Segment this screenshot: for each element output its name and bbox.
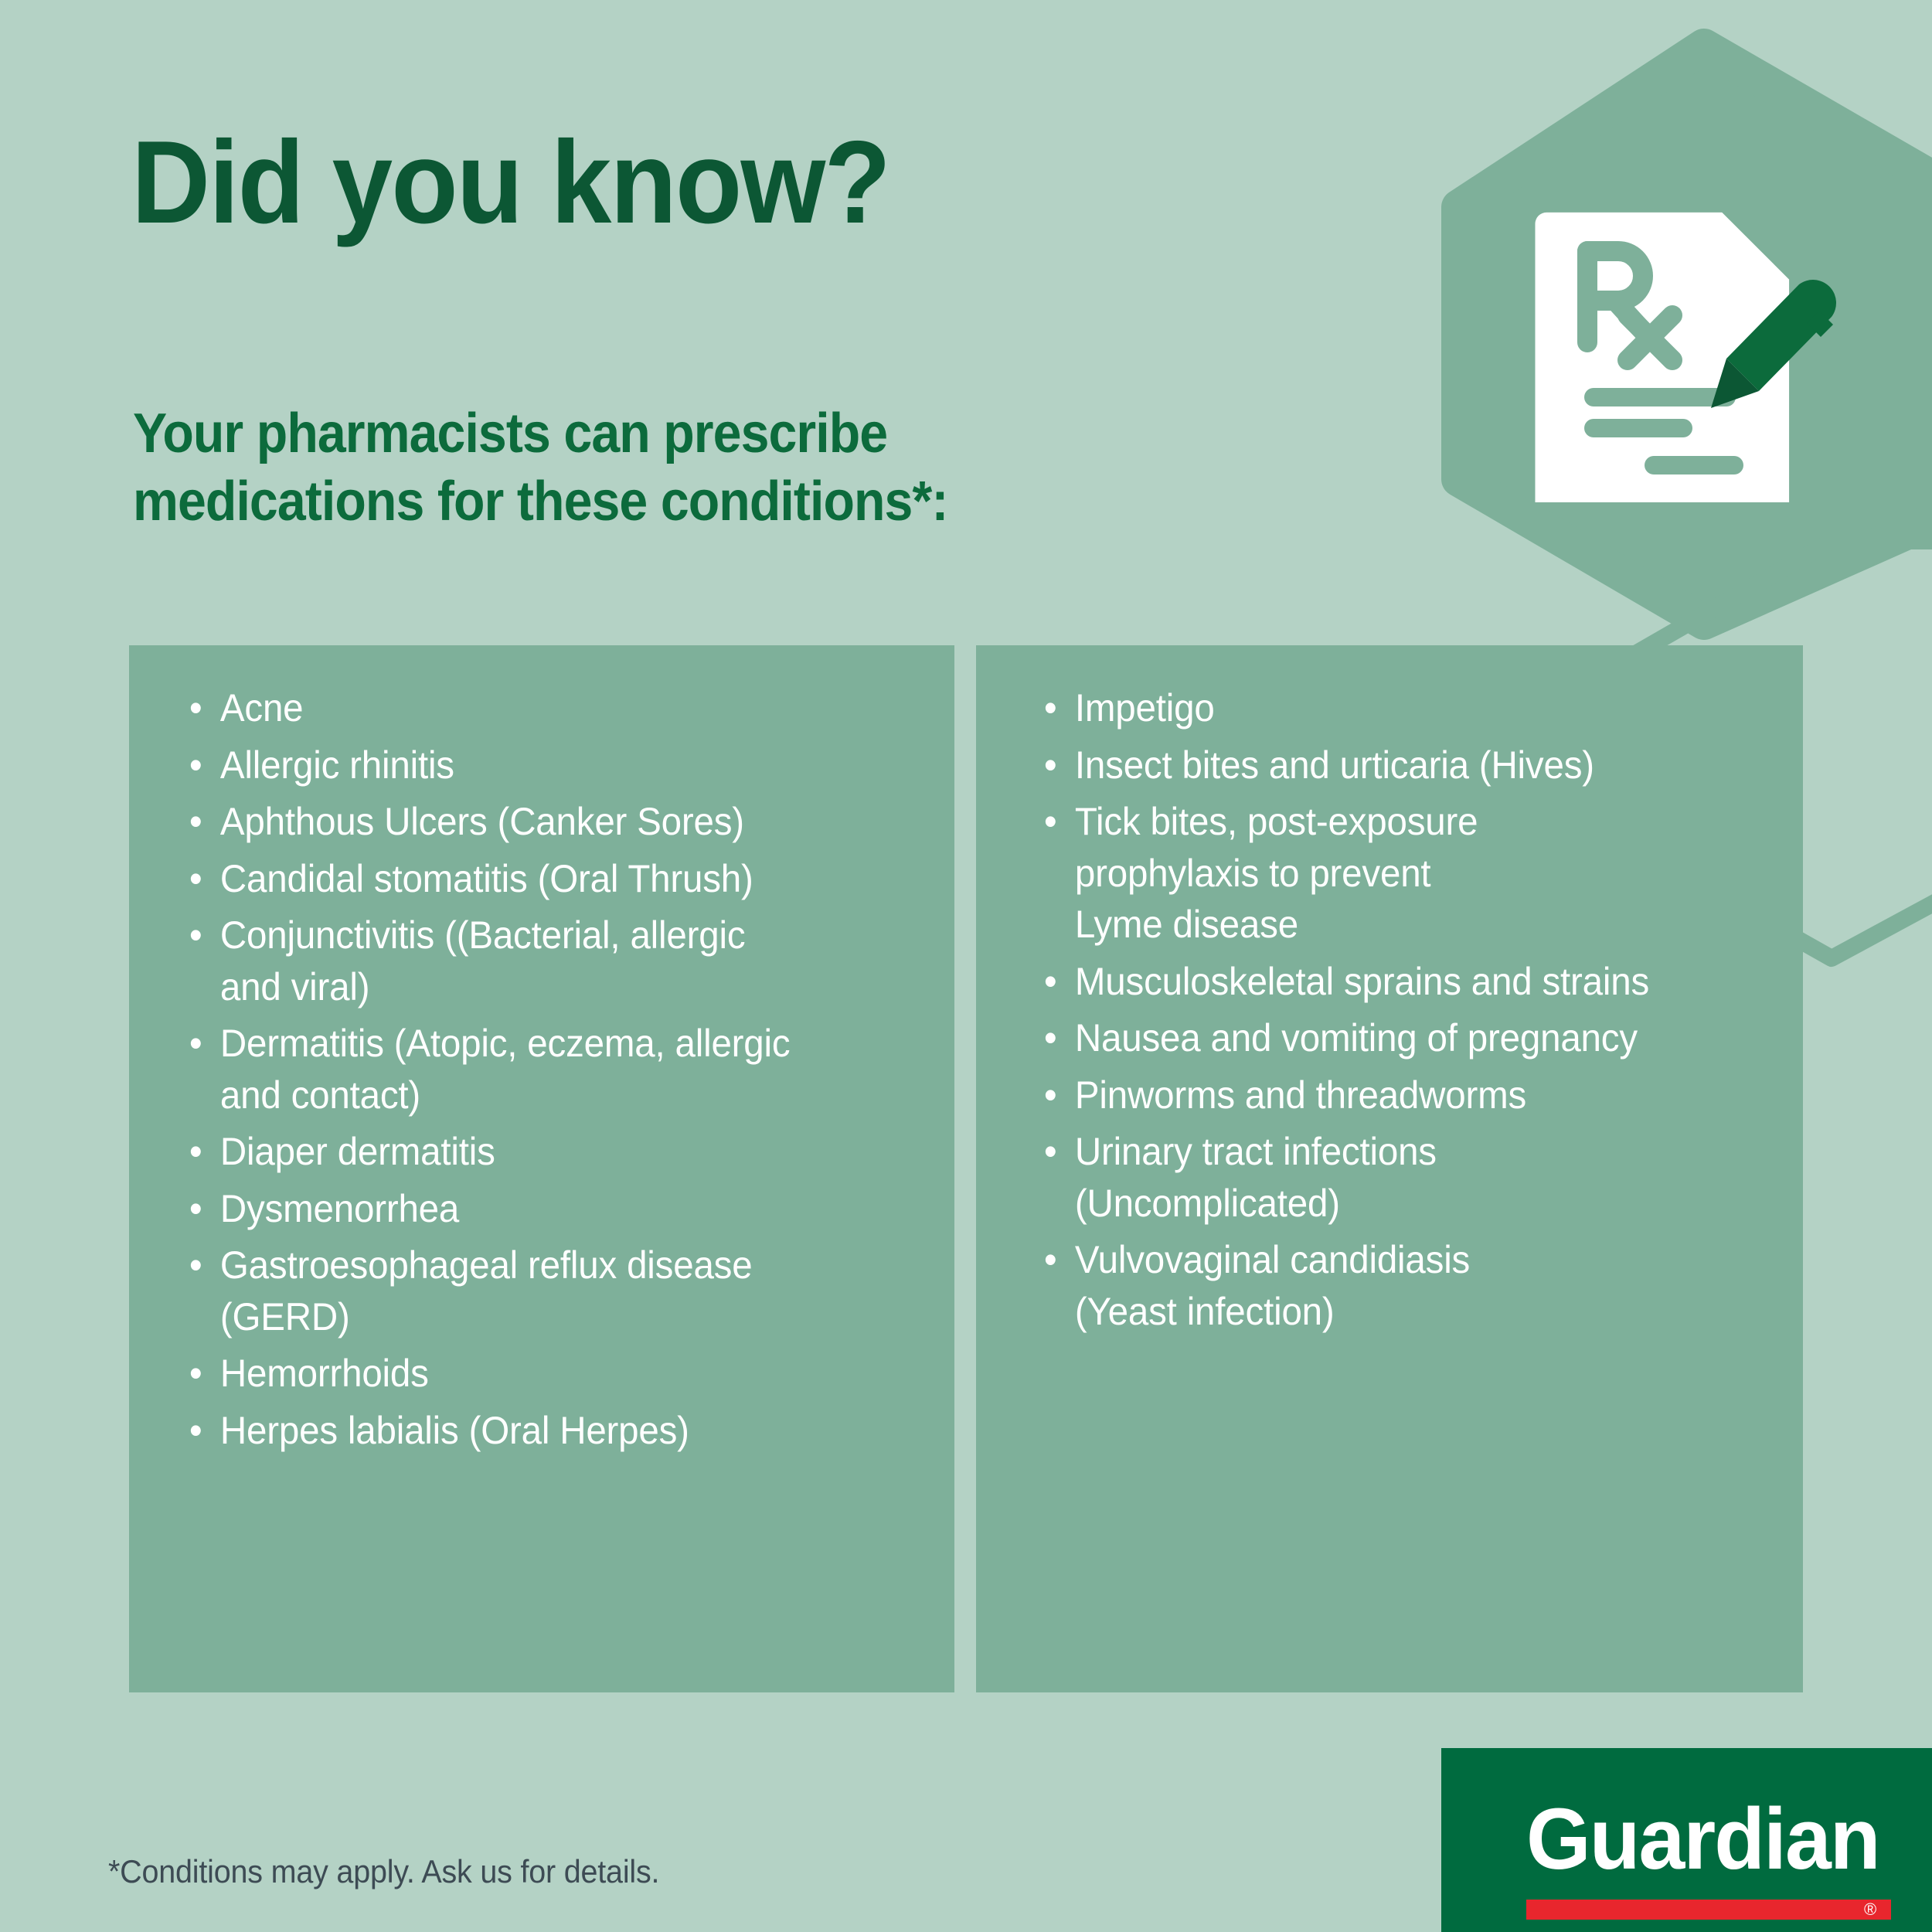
prescription-document-icon (1492, 116, 1870, 502)
list-item: Urinary tract infections (Uncomplicated) (1044, 1126, 1749, 1229)
list-item: Aphthous Ulcers (Canker Sores) (189, 796, 887, 848)
guardian-wordmark: Guardian (1526, 1796, 1879, 1883)
document-line-2 (1584, 419, 1692, 437)
list-item: Hemorrhoids (189, 1348, 887, 1400)
list-item: Allergic rhinitis (189, 740, 887, 791)
document-signature-line (1645, 456, 1743, 474)
list-item: Tick bites, post-exposure prophylaxis to… (1044, 796, 1749, 951)
conditions-panel-right: Impetigo Insect bites and urticaria (Hiv… (976, 645, 1803, 1692)
footnote-disclaimer: *Conditions may apply. Ask us for detail… (108, 1853, 659, 1890)
registered-trademark-symbol: ® (1864, 1900, 1876, 1919)
document-folded-corner (1722, 213, 1789, 280)
list-item: Dysmenorrhea (189, 1183, 887, 1235)
list-item: Nausea and vomiting of pregnancy (1044, 1012, 1749, 1064)
list-item: Herpes labialis (Oral Herpes) (189, 1405, 887, 1457)
infographic-canvas: Did you know? Your pharmacists can presc… (0, 0, 1932, 1932)
list-item: Candidal stomatitis (Oral Thrush) (189, 853, 887, 905)
list-item: Vulvovaginal candidiasis (Yeast infectio… (1044, 1234, 1749, 1337)
list-item: Insect bites and urticaria (Hives) (1044, 740, 1749, 791)
list-item: Pinworms and threadworms (1044, 1070, 1749, 1121)
conditions-list-right: Impetigo Insect bites and urticaria (Hiv… (1044, 682, 1786, 1342)
conditions-panel-left: Acne Allergic rhinitis Aphthous Ulcers (… (129, 645, 954, 1692)
guardian-logo: Guardian ® (1441, 1748, 1932, 1932)
guardian-red-bar (1526, 1900, 1891, 1920)
list-item: Musculoskeletal sprains and strains (1044, 956, 1749, 1008)
list-item: Diaper dermatitis (189, 1126, 887, 1178)
list-item: Gastroesophageal reflux disease (GERD) (189, 1240, 887, 1342)
conditions-list-left: Acne Allergic rhinitis Aphthous Ulcers (… (189, 682, 923, 1461)
page-title: Did you know? (131, 124, 889, 241)
list-item: Conjunctivitis ((Bacterial, allergic and… (189, 910, 887, 1012)
page-subtitle: Your pharmacists can prescribe medicatio… (133, 400, 947, 536)
list-item: Acne (189, 682, 887, 734)
list-item: Dermatitis (Atopic, eczema, allergic and… (189, 1018, 887, 1121)
list-item: Impetigo (1044, 682, 1749, 734)
